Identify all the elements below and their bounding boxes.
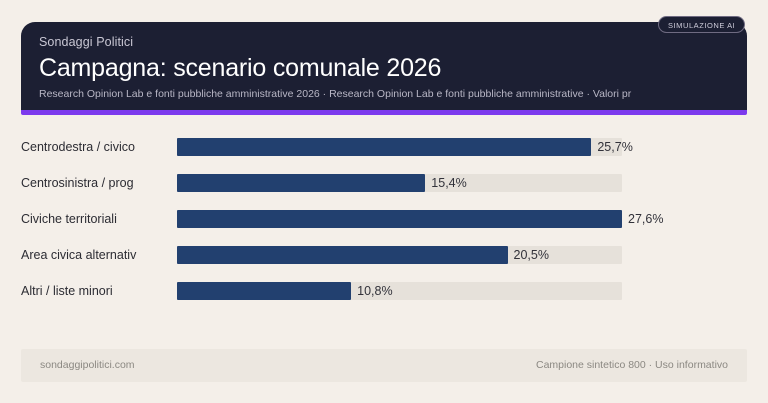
bar-row: Centrosinistra / prog 15,4% xyxy=(0,165,768,201)
bar-category-label: Centrosinistra / prog xyxy=(21,165,168,201)
bar-value-label: 27,6% xyxy=(628,210,663,228)
bar-track xyxy=(177,246,622,264)
bar-row: Altri / liste minori 10,8% xyxy=(0,273,768,309)
bar-track xyxy=(177,210,622,228)
bar-row: Area civica alternativ 20,5% xyxy=(0,237,768,273)
bar-category-label: Area civica alternativ xyxy=(21,237,168,273)
footer-source: sondaggipolitici.com xyxy=(40,349,135,382)
accent-bar xyxy=(21,110,747,115)
bar-fill xyxy=(177,246,508,264)
ai-simulation-badge: SIMULAZIONE AI xyxy=(658,16,745,33)
bar-track xyxy=(177,282,622,300)
header-kicker: Sondaggi Politici xyxy=(39,34,729,50)
bar-row: Civiche territoriali 27,6% xyxy=(0,201,768,237)
bar-row: Centrodestra / civico 25,7% xyxy=(0,129,768,165)
bar-fill xyxy=(177,174,425,192)
bar-category-label: Centrodestra / civico xyxy=(21,129,168,165)
footer-note: Campione sintetico 800 · Uso informativo xyxy=(536,349,728,382)
header-card: Sondaggi Politici Campagna: scenario com… xyxy=(21,22,747,110)
bar-fill xyxy=(177,138,591,156)
bar-value-label: 10,8% xyxy=(357,282,392,300)
bar-track xyxy=(177,174,622,192)
bar-value-label: 15,4% xyxy=(431,174,466,192)
footer-bar: sondaggipolitici.com Campione sintetico … xyxy=(21,349,747,382)
bar-fill xyxy=(177,210,622,228)
bar-track xyxy=(177,138,622,156)
header-subtitle: Research Opinion Lab e fonti pubbliche a… xyxy=(39,87,729,102)
bar-value-label: 20,5% xyxy=(514,246,549,264)
bar-category-label: Civiche territoriali xyxy=(21,201,168,237)
bar-category-label: Altri / liste minori xyxy=(21,273,168,309)
bar-fill xyxy=(177,282,351,300)
bar-chart: Centrodestra / civico 25,7% Centrosinist… xyxy=(0,129,768,309)
bar-value-label: 25,7% xyxy=(597,138,632,156)
page-title: Campagna: scenario comunale 2026 xyxy=(39,52,729,84)
